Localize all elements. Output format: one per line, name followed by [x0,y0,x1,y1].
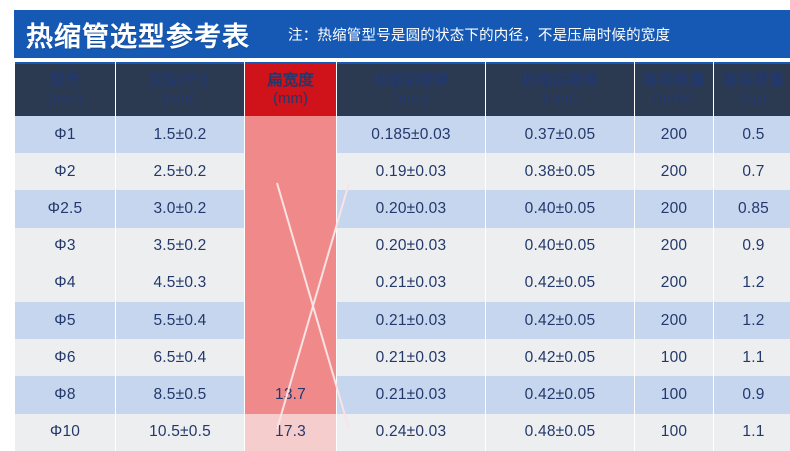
cell-wall-after: 0.48±0.05 [486,414,634,451]
cell-actual-size: 4.5±0.3 [116,265,244,302]
column-header-wall-after-name: 收缩后壁厚 [486,72,634,90]
cell-wall-after: 0.40±0.05 [486,228,634,265]
table-row: Φ33.5±0.20.20±0.030.40±0.052000.9 [15,228,790,265]
cell-qty-per-roll: 200 [635,116,713,153]
cell-wall-before: 0.21±0.03 [337,339,485,376]
column-header-wall-before-name: 收缩前壁厚 [337,72,485,90]
column-header-flat-width: 扁宽度 (mm) [245,62,336,116]
cell-model: Φ2 [15,153,115,190]
spec-table-wrapper: 型号 (mm) 实际尺寸 (mm) 扁宽度 (mm) 收缩前壁厚 (mm) [14,62,790,436]
cell-actual-size: 2.5±0.2 [116,153,244,190]
cell-flat-width [245,228,336,265]
cell-actual-size: 8.5±0.5 [116,376,244,413]
table-row: Φ66.5±0.40.21±0.030.42±0.051001.1 [15,339,790,376]
table-row: Φ1010.5±0.517.30.24±0.030.48±0.051001.1 [15,414,790,451]
table-row: Φ44.5±0.30.21±0.030.42±0.052001.2 [15,265,790,302]
table-body: Φ11.5±0.20.185±0.030.37±0.052000.5Φ22.5±… [15,116,790,451]
cell-qty-per-roll: 200 [635,228,713,265]
cell-model: Φ1 [15,116,115,153]
title-banner: 热缩管选型参考表 注：热缩管型号是圆的状态下的内径，不是压扁时候的宽度 [14,10,790,58]
cell-wall-before: 0.21±0.03 [337,376,485,413]
cell-weight-per-roll: 0.7 [714,153,790,190]
header-row: 型号 (mm) 实际尺寸 (mm) 扁宽度 (mm) 收缩前壁厚 (mm) [15,62,790,116]
column-header-actual-size-unit: (mm) [116,90,244,107]
column-header-qty-per-roll-name: 每卷数量 [635,72,713,90]
column-header-qty-per-roll-unit: (m/卷) [635,90,713,107]
column-header-model: 型号 (mm) [15,62,115,116]
heat-shrink-tube-spec-table-page: 热缩管选型参考表 注：热缩管型号是圆的状态下的内径，不是压扁时候的宽度 型号 (… [0,0,790,436]
cell-wall-before: 0.185±0.03 [337,116,485,153]
column-header-flat-width-name: 扁宽度 [245,72,336,90]
cell-wall-after: 0.38±0.05 [486,153,634,190]
cell-flat-width [245,265,336,302]
cell-model: Φ10 [15,414,115,451]
cell-flat-width [245,190,336,227]
column-header-actual-size-name: 实际尺寸 [116,72,244,90]
cell-qty-per-roll: 100 [635,414,713,451]
cell-wall-before: 0.24±0.03 [337,414,485,451]
cell-wall-before: 0.19±0.03 [337,153,485,190]
cell-actual-size: 3.0±0.2 [116,190,244,227]
column-header-wall-before: 收缩前壁厚 (mm) [337,62,485,116]
page-title: 热缩管选型参考表 [26,15,250,54]
column-header-actual-size: 实际尺寸 (mm) [116,62,244,116]
column-header-model-unit: (mm) [15,90,115,107]
cell-qty-per-roll: 200 [635,190,713,227]
cell-qty-per-roll: 200 [635,302,713,339]
column-header-weight-per-roll-unit: (kg) [714,90,790,107]
cell-model: Φ5 [15,302,115,339]
column-header-wall-after-unit: (mm) [486,90,634,107]
cell-actual-size: 10.5±0.5 [116,414,244,451]
cell-model: Φ4 [15,265,115,302]
cell-model: Φ6 [15,339,115,376]
column-header-wall-before-unit: (mm) [337,90,485,107]
table-row: Φ2.53.0±0.20.20±0.030.40±0.052000.85 [15,190,790,227]
cell-wall-after: 0.37±0.05 [486,116,634,153]
cell-actual-size: 3.5±0.2 [116,228,244,265]
cell-weight-per-roll: 0.9 [714,228,790,265]
column-header-flat-width-unit: (mm) [245,90,336,107]
table-row: Φ22.5±0.20.19±0.030.38±0.052000.7 [15,153,790,190]
cell-flat-width [245,302,336,339]
banner-note: 注：热缩管型号是圆的状态下的内径，不是压扁时候的宽度 [288,24,670,45]
column-header-model-name: 型号 [15,72,115,90]
cell-wall-before: 0.21±0.03 [337,265,485,302]
cell-wall-before: 0.20±0.03 [337,190,485,227]
cell-qty-per-roll: 100 [635,376,713,413]
column-header-wall-after: 收缩后壁厚 (mm) [486,62,634,116]
column-header-weight-per-roll-name: 每卷重量 [714,72,790,90]
table-row: Φ55.5±0.40.21±0.030.42±0.052001.2 [15,302,790,339]
cell-weight-per-roll: 0.85 [714,190,790,227]
table-header: 型号 (mm) 实际尺寸 (mm) 扁宽度 (mm) 收缩前壁厚 (mm) [15,62,790,116]
cell-model: Φ2.5 [15,190,115,227]
cell-qty-per-roll: 200 [635,153,713,190]
cell-flat-width [245,153,336,190]
cell-weight-per-roll: 1.2 [714,302,790,339]
cell-weight-per-roll: 1.1 [714,414,790,451]
cell-model: Φ3 [15,228,115,265]
cell-qty-per-roll: 200 [635,265,713,302]
cell-flat-width: 13.7 [245,376,336,413]
cell-actual-size: 1.5±0.2 [116,116,244,153]
cell-flat-width [245,339,336,376]
cell-model: Φ8 [15,376,115,413]
column-header-weight-per-roll: 每卷重量 (kg) [714,62,790,116]
cell-flat-width: 17.3 [245,414,336,451]
cell-weight-per-roll: 0.9 [714,376,790,413]
table-row: Φ88.5±0.513.70.21±0.030.42±0.051000.9 [15,376,790,413]
cell-actual-size: 6.5±0.4 [116,339,244,376]
cell-flat-width [245,116,336,153]
cell-wall-after: 0.42±0.05 [486,302,634,339]
cell-weight-per-roll: 0.5 [714,116,790,153]
cell-weight-per-roll: 1.2 [714,265,790,302]
cell-wall-after: 0.42±0.05 [486,376,634,413]
cell-qty-per-roll: 100 [635,339,713,376]
column-header-qty-per-roll: 每卷数量 (m/卷) [635,62,713,116]
cell-actual-size: 5.5±0.4 [116,302,244,339]
cell-wall-after: 0.40±0.05 [486,190,634,227]
cell-wall-after: 0.42±0.05 [486,265,634,302]
table-row: Φ11.5±0.20.185±0.030.37±0.052000.5 [15,116,790,153]
cell-wall-before: 0.21±0.03 [337,302,485,339]
spec-table: 型号 (mm) 实际尺寸 (mm) 扁宽度 (mm) 收缩前壁厚 (mm) [14,62,790,451]
cell-wall-after: 0.42±0.05 [486,339,634,376]
cell-wall-before: 0.20±0.03 [337,228,485,265]
cell-weight-per-roll: 1.1 [714,339,790,376]
